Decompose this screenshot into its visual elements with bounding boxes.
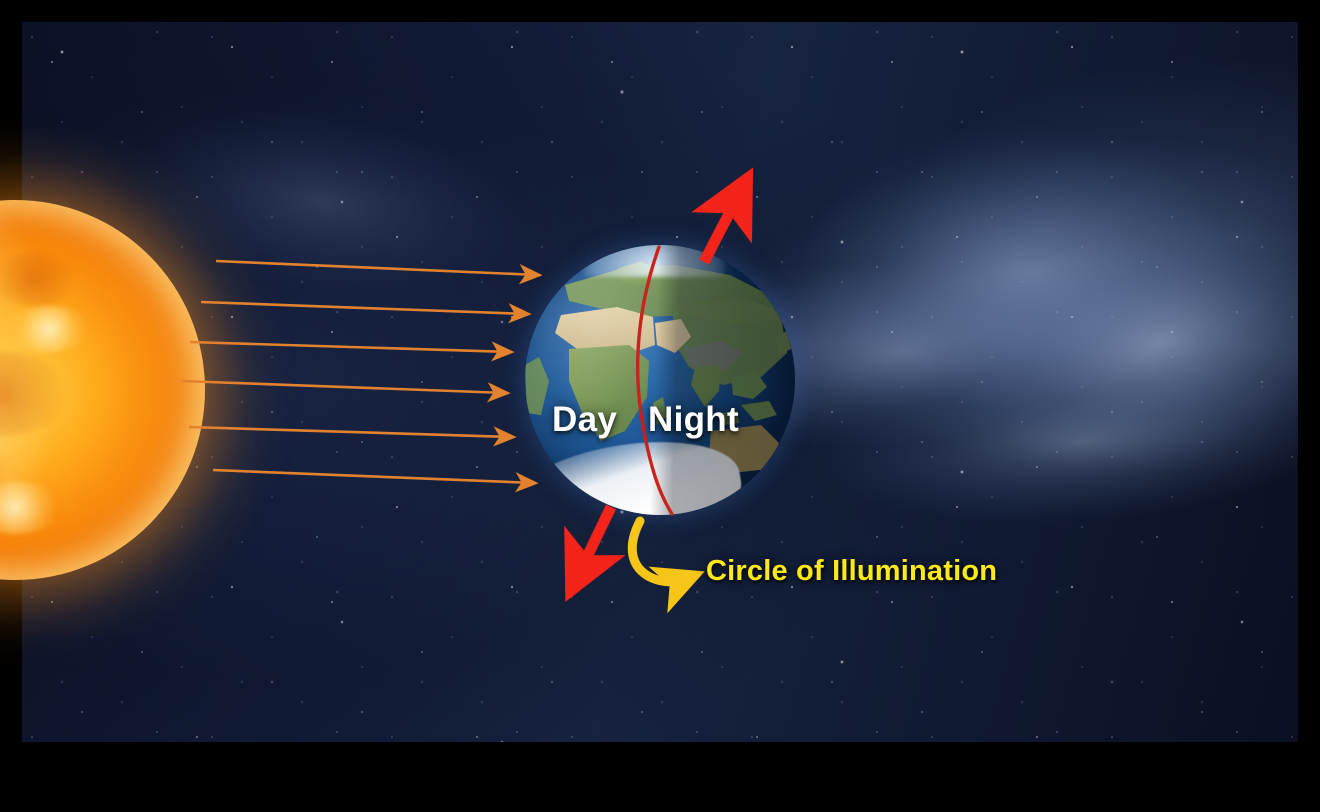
diagram-canvas: Day Night Circle of Illumination xyxy=(0,0,1320,812)
sun-bright-patch xyxy=(0,481,61,534)
sun-granulation xyxy=(0,253,76,306)
earth-globe xyxy=(525,245,795,515)
sun xyxy=(0,200,205,580)
sun-bright-patch xyxy=(7,306,91,352)
circle-of-illumination-label: Circle of Illumination xyxy=(706,555,997,588)
day-label: Day xyxy=(552,400,617,440)
sun-granulation xyxy=(0,352,68,436)
arctic-ice xyxy=(584,245,724,277)
night-label: Night xyxy=(648,400,739,440)
